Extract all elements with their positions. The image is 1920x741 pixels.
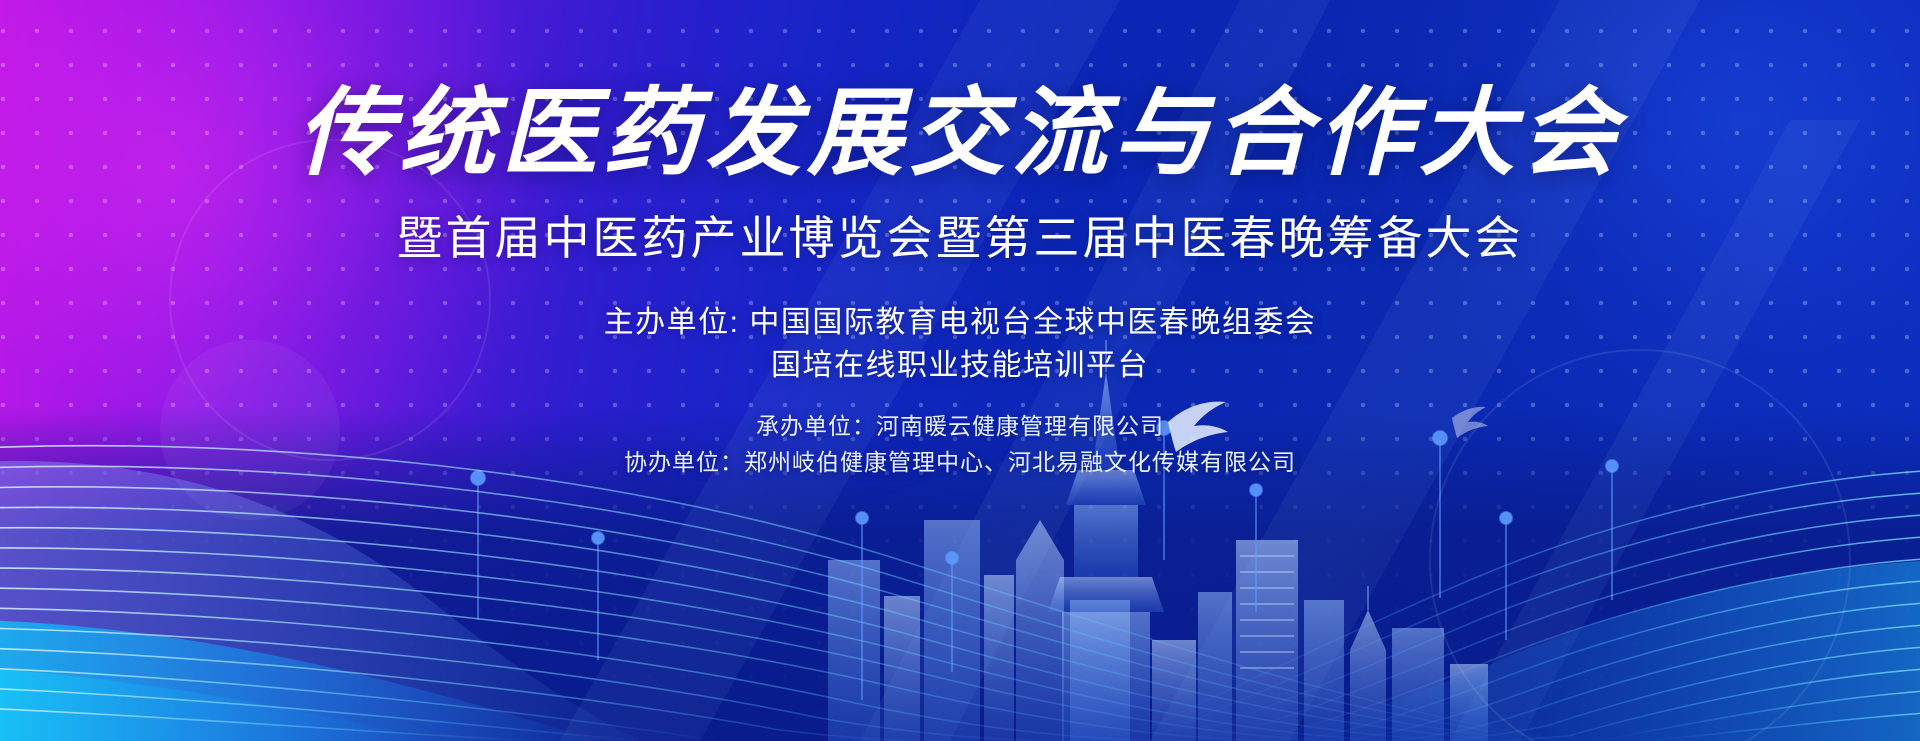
conference-banner: 传统医药发展交流与合作大会 暨首届中医药产业博览会暨第三届中医春晚筹备大会 主办… (0, 0, 1920, 741)
undertaker-line: 承办单位：河南暖云健康管理有限公司 (0, 409, 1920, 445)
banner-text-content: 传统医药发展交流与合作大会 暨首届中医药产业博览会暨第三届中医春晚筹备大会 主办… (0, 0, 1920, 480)
co-organizer-line: 协办单位：郑州岐伯健康管理中心、河北易融文化传媒有限公司 (0, 445, 1920, 481)
host-line-2: 国培在线职业技能培训平台 (0, 345, 1920, 388)
page-title: 传统医药发展交流与合作大会 (0, 0, 1920, 185)
host-organizers: 主办单位: 中国国际教育电视台全球中医春晚组委会 国培在线职业技能培训平台 (0, 266, 1920, 387)
banner-subtitle: 暨首届中医药产业博览会暨第三届中医春晚筹备大会 (0, 185, 1920, 266)
host-line-1: 主办单位: 中国国际教育电视台全球中医春晚组委会 (0, 302, 1920, 345)
support-organizers: 承办单位：河南暖云健康管理有限公司 协办单位：郑州岐伯健康管理中心、河北易融文化… (0, 387, 1920, 480)
blue-glow-bottom (672, 451, 1572, 741)
